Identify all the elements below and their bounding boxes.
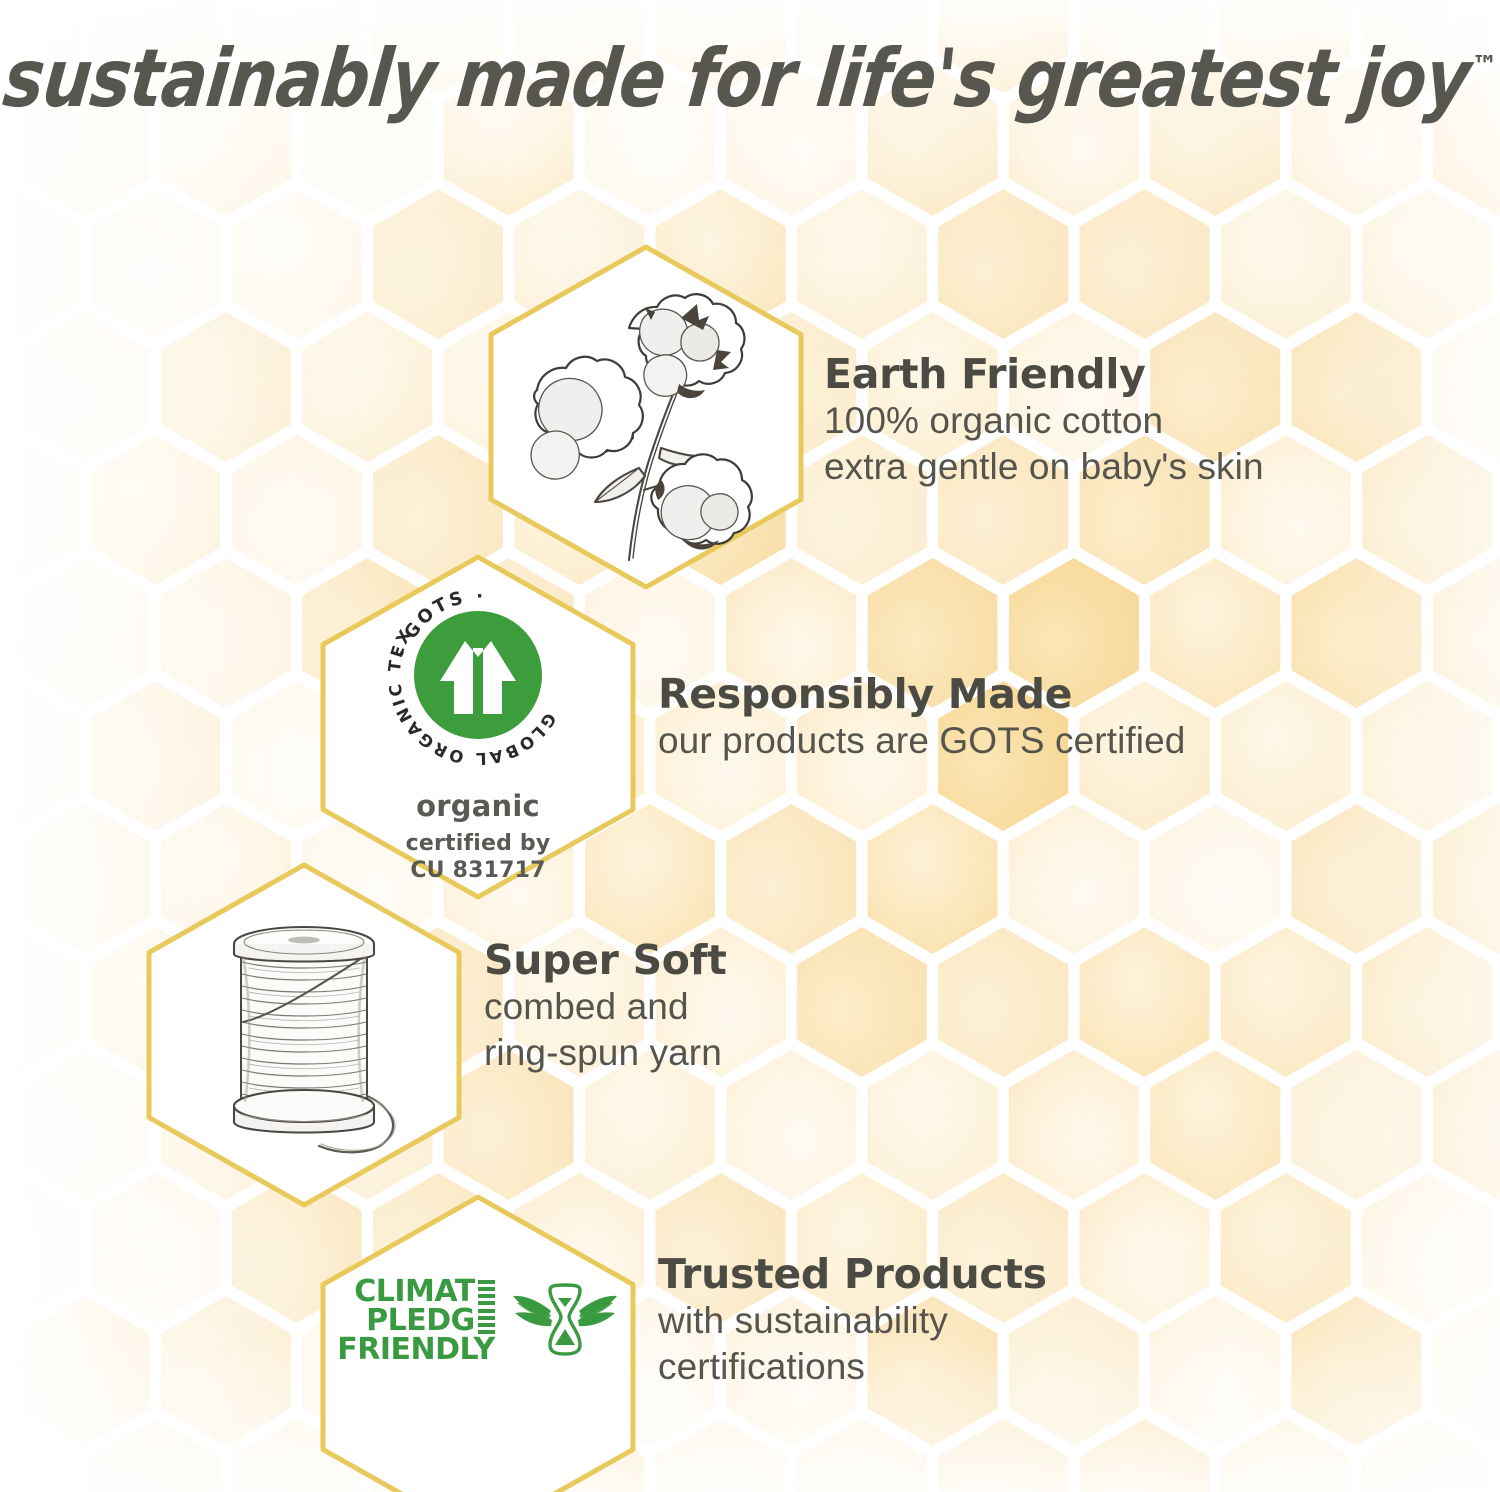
- gots-green-disc: [414, 611, 542, 739]
- feature-line: combed and: [484, 984, 727, 1030]
- gots-caption-sub-line1: certified by: [406, 831, 551, 858]
- feature-title: Super Soft: [484, 938, 727, 984]
- feature-hex-earth-friendly: [486, 242, 806, 592]
- cotton-boll-left: [531, 357, 643, 479]
- feature-line: 100% organic cotton: [824, 398, 1264, 444]
- thread-spool-icon: [179, 900, 429, 1170]
- infographic-page: sustainably made for life's greatest joy…: [0, 0, 1500, 1492]
- headline-text: sustainably made for life's greatest joy: [0, 40, 1474, 120]
- feature-text-super-soft: Super Soft combed and ring-spun yarn: [484, 938, 727, 1076]
- gots-seal-icon: GLOBAL ORGANIC TEXTILE STANDARD · GOTS ·: [376, 573, 580, 777]
- feature-line: extra gentle on baby's skin: [824, 444, 1264, 490]
- feature-title: Trusted Products: [658, 1252, 1047, 1298]
- cpf-line3-text: FRIENDLY: [337, 1336, 494, 1365]
- feature-title: Responsibly Made: [658, 672, 1185, 718]
- feature-title: Earth Friendly: [824, 352, 1264, 398]
- gots-certification-icon: GLOBAL ORGANIC TEXTILE STANDARD · GOTS ·…: [318, 569, 638, 885]
- feature-hex-trusted-products: CLIMAT PLEDG FRIENDLY: [318, 1192, 638, 1492]
- feature-line: with sustainability: [658, 1298, 1047, 1344]
- feature-line: our products are GOTS certified: [658, 718, 1185, 764]
- feature-text-trusted-products: Trusted Products with sustainability cer…: [658, 1252, 1047, 1390]
- cotton-boll-upper: [629, 294, 744, 398]
- feature-text-earth-friendly: Earth Friendly 100% organic cotton extra…: [824, 352, 1264, 490]
- feature-line: ring-spun yarn: [484, 1030, 727, 1076]
- page-headline: sustainably made for life's greatest joy…: [0, 46, 1500, 114]
- feature-text-responsibly-made: Responsibly Made our products are GOTS c…: [658, 672, 1185, 764]
- cpf-line-3: FRIENDLY: [337, 1336, 494, 1365]
- cpf-bars-icon: [478, 1307, 495, 1335]
- cotton-boll-lower: [651, 454, 751, 549]
- winged-hourglass-icon: [511, 1283, 619, 1359]
- trademark-mark: ™: [1472, 51, 1498, 81]
- climate-pledge-friendly-icon: CLIMAT PLEDG FRIENDLY: [337, 1278, 618, 1364]
- cpf-wordmark: CLIMAT PLEDG FRIENDLY: [337, 1278, 494, 1364]
- cotton-branch-icon: [511, 272, 781, 562]
- gots-caption-main: organic: [416, 789, 540, 823]
- feature-hex-responsibly-made: GLOBAL ORGANIC TEXTILE STANDARD · GOTS ·…: [318, 552, 638, 902]
- cpf-bars-icon: [478, 1278, 495, 1306]
- feature-line: certifications: [658, 1344, 1047, 1390]
- feature-hex-super-soft: [144, 860, 464, 1210]
